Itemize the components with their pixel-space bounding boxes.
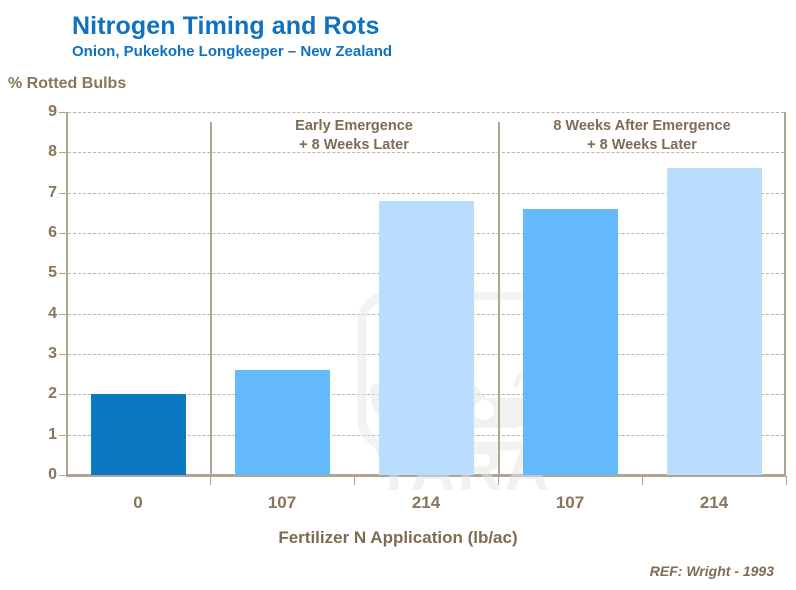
y-tick-mark bbox=[59, 314, 66, 315]
y-tick-label: 6 bbox=[48, 225, 57, 241]
bar bbox=[91, 394, 186, 475]
x-tick-label: 107 bbox=[268, 493, 296, 513]
group-separator bbox=[210, 122, 212, 475]
page-subtitle: Onion, Pukekohe Longkeeper – New Zealand bbox=[72, 43, 392, 60]
y-tick-mark bbox=[59, 152, 66, 153]
x-axis-title: Fertilizer N Application (lb/ac) bbox=[0, 528, 796, 548]
y-tick-label: 5 bbox=[48, 265, 57, 281]
reference-note: REF: Wright - 1993 bbox=[650, 563, 774, 579]
page-title: Nitrogen Timing and Rots bbox=[72, 12, 380, 41]
y-axis-title: % Rotted Bulbs bbox=[8, 75, 126, 93]
bar bbox=[667, 168, 762, 475]
x-tick-label: 0 bbox=[133, 493, 142, 513]
y-tick-label: 8 bbox=[48, 144, 57, 160]
group-label: Early Emergence+ 8 Weeks Later bbox=[295, 117, 413, 155]
y-tick-label: 1 bbox=[48, 427, 57, 443]
y-tick-mark bbox=[59, 273, 66, 274]
gridline bbox=[68, 112, 784, 113]
x-tick-label: 107 bbox=[556, 493, 584, 513]
x-tick-mark bbox=[498, 476, 499, 485]
x-tick-mark bbox=[210, 476, 211, 485]
plot-right-border bbox=[784, 112, 786, 475]
y-tick-label: 3 bbox=[48, 346, 57, 362]
y-tick-mark bbox=[59, 435, 66, 436]
x-tick-mark bbox=[642, 476, 643, 485]
y-tick-label: 0 bbox=[48, 467, 57, 483]
y-tick-mark bbox=[59, 475, 66, 476]
y-tick-label: 9 bbox=[48, 104, 57, 120]
x-tick-label: 214 bbox=[700, 493, 728, 513]
y-tick-mark bbox=[59, 233, 66, 234]
y-tick-label: 7 bbox=[48, 185, 57, 201]
y-tick-mark bbox=[59, 193, 66, 194]
plot-area: 0123456789 YARA Early Emergence+ 8 Weeks… bbox=[66, 112, 786, 475]
x-tick-mark bbox=[786, 476, 787, 485]
group-label-line: Early Emergence bbox=[295, 117, 413, 136]
y-tick-mark bbox=[59, 394, 66, 395]
group-separator bbox=[498, 122, 500, 475]
x-tick-label: 214 bbox=[412, 493, 440, 513]
group-label-line: + 8 Weeks Later bbox=[295, 136, 413, 155]
y-tick-label: 2 bbox=[48, 386, 57, 402]
y-tick-mark bbox=[59, 112, 66, 113]
y-tick-label: 4 bbox=[48, 306, 57, 322]
x-tick-mark bbox=[354, 476, 355, 485]
bar bbox=[379, 201, 474, 475]
group-label-line: 8 Weeks After Emergence bbox=[553, 117, 730, 136]
y-axis-line bbox=[66, 112, 68, 475]
group-label: 8 Weeks After Emergence+ 8 Weeks Later bbox=[553, 117, 730, 155]
bar bbox=[235, 370, 330, 475]
group-label-line: + 8 Weeks Later bbox=[553, 136, 730, 155]
bar bbox=[523, 209, 618, 475]
y-tick-mark bbox=[59, 354, 66, 355]
